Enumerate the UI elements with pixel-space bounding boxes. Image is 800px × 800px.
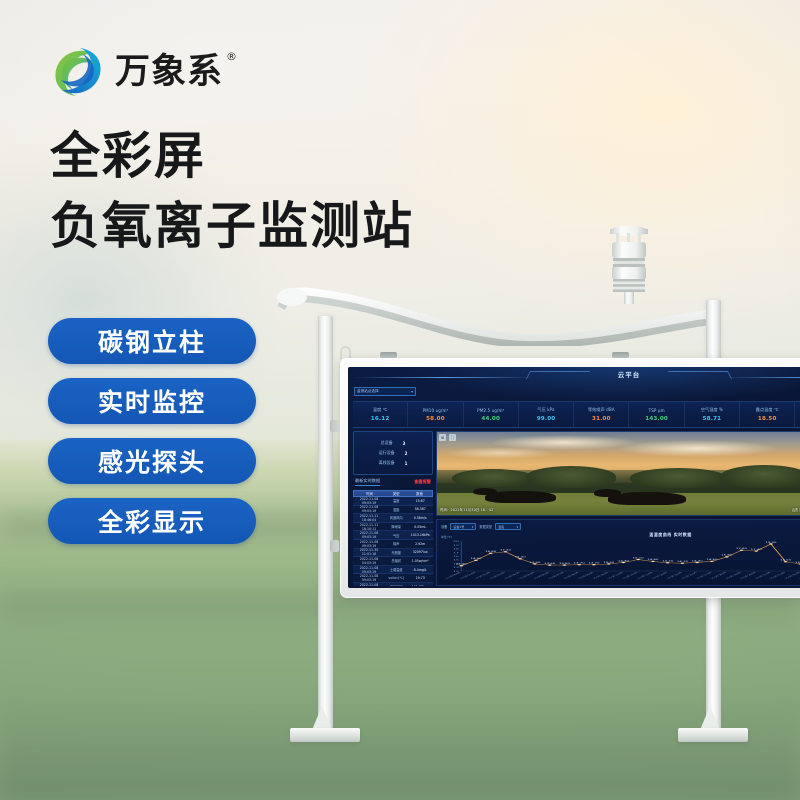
chart-control-label-0: 设备: [441, 524, 447, 529]
chart-y-tick: 17: [453, 552, 459, 554]
device-stat-label: 总设备: [381, 440, 393, 446]
cell-time: 2022-11-11 18:10:11: [353, 523, 385, 531]
chart-point-label: 13.90: [603, 561, 614, 563]
cell-type: 总辐射: [385, 558, 407, 563]
view-alarms-link[interactable]: 查看报警: [414, 479, 431, 485]
chart-data-point[interactable]: [696, 562, 699, 563]
metric-value: 16.12: [371, 416, 390, 422]
table-row[interactable]: 2022-11-08 04:03:19总辐射1.05w/cm²: [353, 557, 433, 566]
chart-point-label: 17.60: [736, 548, 747, 550]
chart-y-tick: 13: [453, 567, 459, 569]
chart-point-label: 13.60: [544, 562, 555, 564]
center-column: ⊞ ⛶ 时间：2022年11月30日 16：42 山东 潍坊 # 报警类型 报警…: [436, 431, 800, 586]
cell-time: 2022-11-08 09:03:19: [353, 497, 385, 505]
camera-watermark: 山东 潍坊: [792, 507, 800, 512]
cell-time: 2022-11-08 04:03:19: [353, 557, 385, 565]
chart-point-label: 14.60: [706, 559, 717, 561]
chart-controls: 设备 设备1号 ▾ 数据类型 温度 ▾ ⟳: [439, 522, 800, 531]
metric-value: 99.00: [537, 416, 556, 422]
dashboard-header: 云平台: [348, 367, 800, 387]
cell-value: 32097lux: [407, 550, 433, 554]
chart-data-point[interactable]: [740, 550, 743, 551]
chevron-down-icon: ▾: [411, 389, 413, 394]
cell-value: 19.73: [407, 576, 433, 580]
column-header-value: 数值: [407, 491, 432, 496]
cell-type: 土壤温度: [385, 567, 407, 572]
ultrasonic-weather-sensor: [598, 222, 660, 304]
chart-point-label: 13.40: [456, 563, 467, 565]
camera-toolbar: ⊞ ⛶: [439, 434, 456, 441]
realtime-data-table: 时间 类型 数值 2022-11-08 09:03:19温度15.872022-…: [353, 490, 433, 586]
cell-time: 2022-11-08 07:10:47: [353, 583, 385, 586]
chevron-down-icon: ▾: [472, 525, 474, 529]
chart-point-label: 14.90: [470, 558, 481, 560]
chart-data-point[interactable]: [666, 562, 669, 563]
cell-type: 光照度: [385, 550, 407, 555]
cell-time: 2022-11-30 11:01:18: [353, 548, 385, 556]
device-stat-label: 离线设备: [379, 460, 395, 466]
table-row[interactable]: 2022-11-30 11:01:18光照度32097lux: [353, 549, 433, 558]
cell-value: 1.05w/cm²: [407, 559, 433, 563]
chart-point-label: 15.10: [633, 557, 644, 559]
cell-type: 温度: [385, 498, 407, 503]
chart-data-point[interactable]: [681, 563, 684, 564]
chart-point-label: 17.40: [751, 548, 762, 550]
column-header-type: 类型: [385, 491, 407, 496]
chart-data-point[interactable]: [504, 551, 507, 552]
chart-y-tick: 20: [453, 541, 459, 543]
cell-value: 15.87: [407, 499, 433, 503]
camera-bush: [630, 468, 727, 488]
capture-icon[interactable]: ⊞: [439, 434, 446, 441]
chart-device-value: 设备1号: [453, 525, 464, 529]
table-row[interactable]: 2022-11-08 09:03:19土壤温度8.4mg/L: [353, 566, 433, 575]
table-body: 2022-11-08 09:03:19温度15.872022-11-08 09:…: [353, 497, 433, 586]
dashboard-subheader: 监测站点选择 ▾ XXXX科技有限公司 退出: [348, 387, 800, 400]
device-stat-row-0: 总设备3: [362, 440, 424, 446]
chart-data-point[interactable]: [651, 561, 654, 562]
chart-data-point[interactable]: [622, 562, 625, 563]
table-row[interactable]: 2022-11-08 09:03:19温度15.87: [353, 497, 433, 506]
realtime-table-title: 最新实时数据: [355, 478, 380, 486]
carbon-steel-post-left: [318, 316, 333, 730]
camera-cloud: [444, 447, 556, 459]
chart-data-point[interactable]: [563, 565, 566, 566]
cell-type: voltac(℃): [385, 576, 407, 580]
chart-data-point[interactable]: [548, 565, 551, 566]
chart-y-tick: 19: [453, 544, 459, 546]
chart-plot-area: 单位(℃) 12131415161718192013.4011-30 00:00…: [443, 539, 800, 583]
cell-time: 2022-11-08 09:03:19: [353, 566, 385, 574]
cell-value: 101.88kpa: [407, 585, 433, 586]
camera-cow: [485, 491, 556, 503]
table-row[interactable]: 2022-11-11 18:46:04风速风向0.38m/s: [353, 514, 433, 523]
chart-point-label: 13.70: [588, 562, 599, 564]
cell-type: 噪声: [385, 541, 407, 546]
chart-y-tick: 18: [453, 548, 459, 550]
realtime-table-header: 最新实时数据 查看报警: [353, 478, 433, 487]
chart-data-point[interactable]: [489, 553, 492, 554]
cell-time: 2022-11-08 09:03:19: [353, 574, 385, 582]
chart-point-label: 15.30: [515, 556, 526, 558]
column-header-time: 时间: [354, 491, 385, 496]
cell-value: 1013.16kPa: [407, 533, 433, 537]
chart-data-point[interactable]: [784, 561, 787, 562]
cell-time: 2022-11-08 09:03:19: [353, 531, 385, 539]
table-row[interactable]: 2022-11-08 07:10:47空气气压101.88kpa: [353, 583, 433, 586]
chart-data-point[interactable]: [607, 563, 610, 564]
cell-type: 湿度: [385, 507, 407, 512]
chart-data-point[interactable]: [710, 561, 713, 562]
cell-value: 8.4mg/L: [407, 568, 433, 572]
fullscreen-icon[interactable]: ⛶: [449, 434, 456, 441]
chart-point-label: 19.30: [765, 541, 776, 543]
device-stat-value: 3: [403, 441, 406, 446]
device-stat-row-1: 运行设备2: [362, 450, 424, 456]
chart-point-label: 13.90: [529, 561, 540, 563]
live-camera-feed[interactable]: ⊞ ⛶ 时间：2022年11月30日 16：42 山东 潍坊: [436, 431, 800, 516]
metric-value: 18.50: [758, 416, 777, 422]
chevron-down-icon: ▾: [517, 525, 519, 529]
cell-type: 气压: [385, 533, 407, 538]
camera-cloud: [616, 440, 780, 457]
camera-bush: [720, 465, 800, 488]
left-column: 总设备3运行设备2离线设备1 最新实时数据 查看报警 时间 类型 数值 2022…: [353, 431, 433, 586]
cell-type: 空气气压: [385, 584, 407, 586]
metric-value: 58.71: [703, 416, 722, 422]
chart-data-point[interactable]: [533, 563, 536, 564]
cell-time: 2022-11-08 09:03:19: [353, 505, 385, 513]
chart-point-label: 14.10: [677, 561, 688, 563]
cell-value: 0.05mL: [407, 525, 433, 529]
chart-point-label: 13.90: [795, 561, 800, 563]
chart-point-label: 14.60: [647, 559, 658, 561]
chart-data-point[interactable]: [769, 543, 772, 544]
device-stat-label: 运行设备: [379, 450, 395, 456]
metric-value: 31.00: [592, 416, 611, 422]
chart-datatype-value: 温度: [498, 525, 504, 529]
table-row[interactable]: 2022-11-11 18:10:11降雨量0.05mL: [353, 523, 433, 532]
chart-point-label: 13.70: [574, 562, 585, 564]
metric-value: 44.00: [481, 416, 500, 422]
monitoring-station-structure: 云平台 监测站点选择 ▾ XXXX科技有限公司 退出 温度 ℃16.12PM10…: [0, 0, 800, 800]
chart-data-point[interactable]: [578, 564, 581, 565]
camera-and-alarms: ⊞ ⛶ 时间：2022年11月30日 16：42 山东 潍坊 # 报警类型 报警…: [436, 431, 800, 516]
cell-value: 0.38m/s: [407, 516, 433, 520]
camera-timestamp: 时间：2022年11月30日 16：42: [440, 507, 493, 512]
chart-title: 温湿度曲线 实时数据: [439, 532, 800, 538]
cell-time: 2022-11-11 18:46:04: [353, 514, 385, 522]
metric-value: 143.00: [645, 416, 668, 422]
display-screen-frame: 云平台 监测站点选择 ▾ XXXX科技有限公司 退出 温度 ℃16.12PM10…: [340, 358, 800, 598]
camera-bush: [526, 466, 615, 488]
device-stat-value: 1: [405, 461, 408, 466]
chart-point-label: 14.30: [692, 560, 703, 562]
site-select-dropdown[interactable]: 监测站点选择 ▾: [354, 387, 416, 396]
chart-line-series: [461, 544, 800, 566]
chart-data-point[interactable]: [460, 565, 463, 566]
chart-point-label: 14.50: [780, 559, 791, 561]
cell-type: 风速风向: [385, 515, 407, 520]
side-lug-lower: [330, 540, 339, 552]
chart-point-label: 17.20: [500, 549, 511, 551]
site-select-value: 监测站点选择: [357, 389, 379, 394]
table-row[interactable]: 2022-11-08 09:03:19气压1013.16kPa: [353, 531, 433, 540]
table-row[interactable]: 2022-11-08 09:03:19voltac(℃)19.73: [353, 574, 433, 583]
cell-value: 58.387: [407, 507, 433, 511]
chart-data-point[interactable]: [725, 556, 728, 557]
chart-y-unit: 单位(℃): [441, 535, 452, 539]
cell-time: 2022-11-08 09:03:19: [353, 540, 385, 548]
dashboard-title: 云平台: [348, 369, 800, 379]
chart-point-label: 16.80: [485, 551, 496, 553]
dashboard: 云平台 监测站点选择 ▾ XXXX科技有限公司 退出 温度 ℃16.12PM10…: [348, 367, 800, 588]
table-row[interactable]: 2022-11-08 09:03:19湿度58.387: [353, 506, 433, 515]
chart-device-select[interactable]: 设备1号 ▾: [450, 523, 476, 530]
camera-bush: [452, 469, 534, 487]
table-row[interactable]: 2022-11-08 09:03:19噪声2.92m: [353, 540, 433, 549]
camera-cow: [608, 492, 686, 505]
chart-data-point[interactable]: [519, 558, 522, 559]
metric-value: 58.00: [426, 416, 445, 422]
cell-type: 降雨量: [385, 524, 407, 529]
chart-y-tick: 16: [453, 556, 459, 558]
chart-point-label: 15.80: [721, 554, 732, 556]
side-lug-upper: [330, 420, 339, 432]
chart-datatype-select[interactable]: 温度 ▾: [495, 523, 521, 530]
chart-data-point[interactable]: [474, 560, 477, 561]
device-stat-value: 2: [405, 451, 408, 456]
chart-point-label: 14.30: [618, 560, 629, 562]
trend-chart-panel: 设备 设备1号 ▾ 数据类型 温度 ▾ ⟳: [436, 519, 800, 586]
chart-data-point[interactable]: [755, 550, 758, 551]
device-stats-card: 总设备3运行设备2离线设备1: [353, 431, 433, 475]
chart-control-label-1: 数据类型: [479, 524, 492, 529]
chart-y-tick: 15: [453, 559, 459, 561]
device-stat-row-2: 离线设备1: [362, 460, 424, 466]
chart-data-point[interactable]: [592, 564, 595, 565]
chart-data-point[interactable]: [637, 559, 640, 560]
cell-value: 2.92m: [407, 542, 433, 546]
chart-point-label: 14.20: [662, 560, 673, 562]
chart-point-label: 13.60: [559, 562, 570, 564]
dashboard-body: 总设备3运行设备2离线设备1 最新实时数据 查看报警 时间 类型 数值 2022…: [353, 431, 800, 586]
chart-axes: [461, 541, 800, 571]
